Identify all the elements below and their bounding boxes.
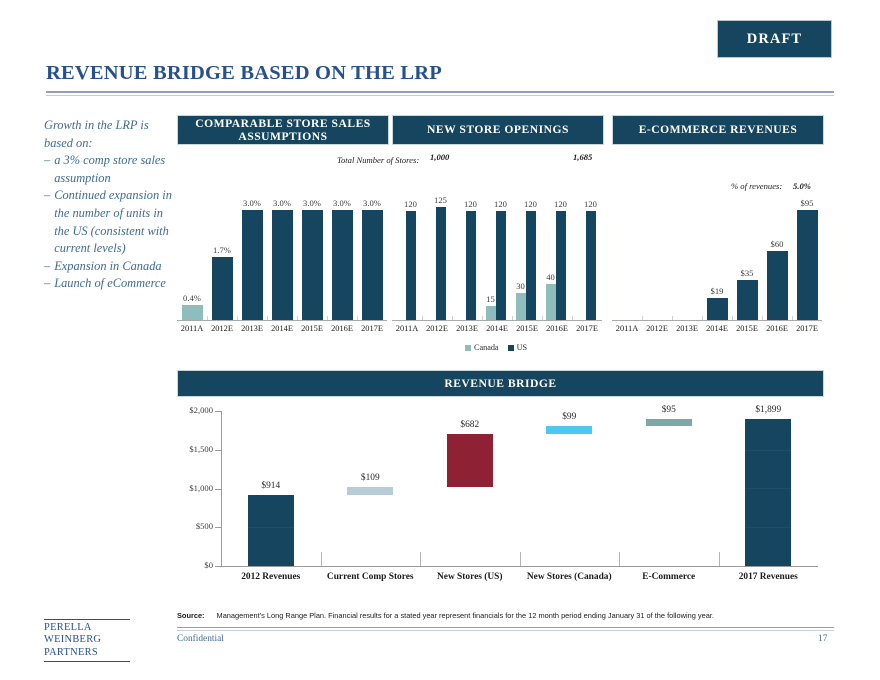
axis-tick-icon (512, 316, 513, 320)
bar-value-label: 120 (395, 199, 427, 209)
bar-value-label: 120 (485, 199, 517, 209)
chart-x-axis (612, 320, 822, 321)
y-axis-tick-icon (215, 527, 221, 528)
logo-line-2: WEINBERG (44, 634, 130, 646)
axis-tick-icon (672, 316, 673, 320)
bar-value-label: 3.0% (351, 198, 394, 208)
bar-us (586, 211, 596, 320)
bar-value-label: $95 (786, 198, 829, 208)
axis-tick-icon (572, 316, 573, 320)
sidebar-bullet-4: – Launch of eCommerce (44, 275, 172, 293)
footer-divider-secondary (177, 630, 834, 631)
axis-tick-icon (422, 316, 423, 320)
x-axis-label: 2017E (352, 324, 392, 333)
axis-tick-icon (297, 316, 298, 320)
sidebar-bullet-1: – a 3% comp store sales assumption (44, 152, 172, 187)
axis-separator-icon (520, 552, 521, 566)
bar-us (797, 210, 818, 320)
legend-swatch-us-icon (508, 345, 514, 351)
bar-us (556, 211, 566, 320)
bar-value-label: 0.4% (171, 293, 214, 303)
sidebar-bullet-2: – Continued expansion in the number of u… (44, 187, 172, 257)
axis-tick-icon (357, 316, 358, 320)
bullet-dash-icon: – (44, 152, 50, 187)
bar-gridline-overlay (745, 527, 791, 528)
waterfall-bar (745, 419, 791, 566)
bar-gridline-overlay (745, 488, 791, 489)
bar-us (707, 298, 728, 320)
y-axis-label: $1,000 (189, 483, 213, 493)
legend-label-canada: Canada (474, 343, 499, 352)
waterfall-value-label: $1,899 (723, 405, 813, 415)
y-axis-label: $2,000 (189, 405, 213, 415)
panel-header-revenue-bridge: REVENUE BRIDGE (177, 370, 824, 397)
page-title: REVENUE BRIDGE BASED ON THE LRP (46, 62, 442, 85)
chart-x-axis (177, 320, 387, 321)
y-axis-tick-icon (215, 411, 221, 412)
total-stores-2017-value: 1,685 (573, 152, 592, 162)
source-label: Source: (177, 611, 205, 620)
axis-tick-icon (452, 316, 453, 320)
bar-value-label: $19 (696, 286, 739, 296)
sidebar-bullet-text: a 3% comp store sales assumption (54, 152, 172, 187)
axis-separator-icon (719, 552, 720, 566)
chart-comparable-store-sales: 0.4%1.7%3.0%3.0%3.0%3.0%3.0%2011A2012E20… (177, 165, 387, 335)
axis-tick-icon (762, 316, 763, 320)
sidebar-bullet-text: Continued expansion in the number of uni… (54, 187, 172, 257)
chart-new-store-openings: 1201251201201201201201530402011A2012E201… (392, 165, 602, 335)
waterfall-category-label: 2017 Revenues (716, 572, 820, 584)
axis-tick-icon (732, 316, 733, 320)
panel-header-new-store-openings: NEW STORE OPENINGS (392, 115, 604, 145)
waterfall-category-label: Current Comp Stores (318, 572, 422, 584)
axis-tick-icon (792, 316, 793, 320)
chart-y-axis (221, 411, 222, 566)
pct-of-revenues-label: % of revenues: (731, 181, 782, 191)
waterfall-value-label: $99 (524, 412, 614, 422)
waterfall-bar (248, 495, 294, 566)
axis-separator-icon (321, 552, 322, 566)
y-axis-label: $0 (204, 560, 213, 570)
confidential-label: Confidential (177, 634, 224, 644)
waterfall-category-label: E-Commerce (617, 572, 721, 584)
legend-item-canada: Canada (465, 343, 499, 352)
axis-tick-icon (267, 316, 268, 320)
bar-value-label: 120 (575, 199, 607, 209)
bar-us (332, 210, 353, 320)
bar-us (302, 210, 323, 320)
bar-canada (486, 306, 496, 320)
waterfall-category-label: 2012 Revenues (219, 572, 323, 584)
chart-ecommerce-revenues: $19$35$60$952011A2012E2013E2014E2015E201… (612, 165, 822, 335)
source-note: Source:Management’s Long Range Plan. Fin… (177, 611, 714, 620)
total-stores-label: Total Number of Stores: (337, 155, 419, 165)
bar-us (182, 305, 203, 320)
y-axis-label: $500 (196, 521, 213, 531)
axis-tick-icon (327, 316, 328, 320)
draft-badge: DRAFT (717, 20, 832, 58)
chart-x-axis (221, 566, 818, 567)
total-stores-2012-value: 1,000 (430, 152, 449, 162)
sidebar-bullet-text: Expansion in Canada (54, 258, 172, 276)
y-axis-label: $1,500 (189, 444, 213, 454)
page-number: 17 (818, 634, 827, 644)
bar-value-label: 15 (475, 294, 507, 304)
waterfall-bar (546, 426, 592, 434)
bullet-dash-icon: – (44, 187, 50, 257)
legend-swatch-canada-icon (465, 345, 471, 351)
axis-tick-icon (702, 316, 703, 320)
waterfall-value-label: $682 (425, 420, 515, 430)
bullet-dash-icon: – (44, 258, 50, 276)
bar-gridline-overlay (745, 450, 791, 451)
bar-value-label: 40 (535, 272, 567, 282)
bar-us (526, 211, 536, 320)
waterfall-value-label: $914 (226, 481, 316, 491)
bullet-dash-icon: – (44, 275, 50, 293)
axis-tick-icon (642, 316, 643, 320)
bar-value-label: 1.7% (201, 245, 244, 255)
sidebar-bullet-text: Launch of eCommerce (54, 275, 172, 293)
axis-separator-icon (420, 552, 421, 566)
axis-separator-icon (619, 552, 620, 566)
waterfall-value-label: $95 (624, 405, 714, 415)
footer-divider (177, 627, 834, 628)
title-divider (46, 91, 834, 93)
logo-rule-top (44, 619, 130, 620)
company-logo: PERELLA WEINBERG PARTNERS (44, 622, 130, 659)
chart-revenue-bridge-waterfall: $0$500$1,000$1,500$2,000$9142012 Revenue… (177, 400, 822, 595)
legend-label-us: US (517, 343, 527, 352)
bar-value-label: 120 (515, 199, 547, 209)
y-axis-tick-icon (215, 489, 221, 490)
axis-tick-icon (542, 316, 543, 320)
bar-value-label: 120 (545, 199, 577, 209)
bar-value-label: 120 (455, 199, 487, 209)
axis-tick-icon (237, 316, 238, 320)
waterfall-category-label: New Stores (Canada) (517, 572, 621, 584)
title-divider-secondary (46, 95, 834, 96)
bar-us (737, 280, 758, 320)
logo-rule-bottom (44, 661, 130, 662)
y-axis-tick-icon (215, 566, 221, 567)
bar-value-label: $60 (756, 239, 799, 249)
sidebar-commentary: Growth in the LRP is based on: – a 3% co… (44, 117, 172, 293)
bar-us (406, 211, 416, 320)
bar-canada (516, 293, 526, 320)
waterfall-category-label: New Stores (US) (418, 572, 522, 584)
logo-line-1: PERELLA (44, 622, 130, 634)
axis-tick-icon (482, 316, 483, 320)
chart-legend: Canada US (465, 343, 527, 352)
bar-canada (546, 284, 556, 320)
waterfall-bar (646, 419, 692, 426)
x-axis-label: 2017E (567, 324, 607, 333)
panel-header-ecommerce-revenues: E-COMMERCE REVENUES (612, 115, 824, 145)
bar-us (767, 251, 788, 320)
pct-of-revenues-value: 5.0% (793, 181, 811, 191)
bar-us (212, 257, 233, 320)
panel-header-comparable-store-sales: COMPARABLE STORE SALES ASSUMPTIONS (177, 115, 389, 145)
source-text: Management’s Long Range Plan. Financial … (217, 611, 714, 620)
bar-us (436, 207, 446, 320)
sidebar-bullet-3: – Expansion in Canada (44, 258, 172, 276)
waterfall-value-label: $109 (325, 473, 415, 483)
waterfall-bar (447, 434, 493, 487)
bar-value-label: $35 (726, 268, 769, 278)
bar-us (242, 210, 263, 320)
x-axis-label: 2017E (787, 324, 827, 333)
legend-item-us: US (508, 343, 527, 352)
waterfall-bar (347, 487, 393, 495)
bar-value-label: 125 (425, 195, 457, 205)
bar-us (272, 210, 293, 320)
bar-us (362, 210, 383, 320)
slide: DRAFT REVENUE BRIDGE BASED ON THE LRP Gr… (0, 0, 880, 680)
logo-line-3: PARTNERS (44, 647, 130, 659)
y-axis-tick-icon (215, 450, 221, 451)
bar-value-label: 30 (505, 281, 537, 291)
bar-gridline-overlay (248, 527, 294, 528)
axis-tick-icon (207, 316, 208, 320)
sidebar-lead: Growth in the LRP is based on: (44, 117, 172, 152)
chart-x-axis (392, 320, 602, 321)
